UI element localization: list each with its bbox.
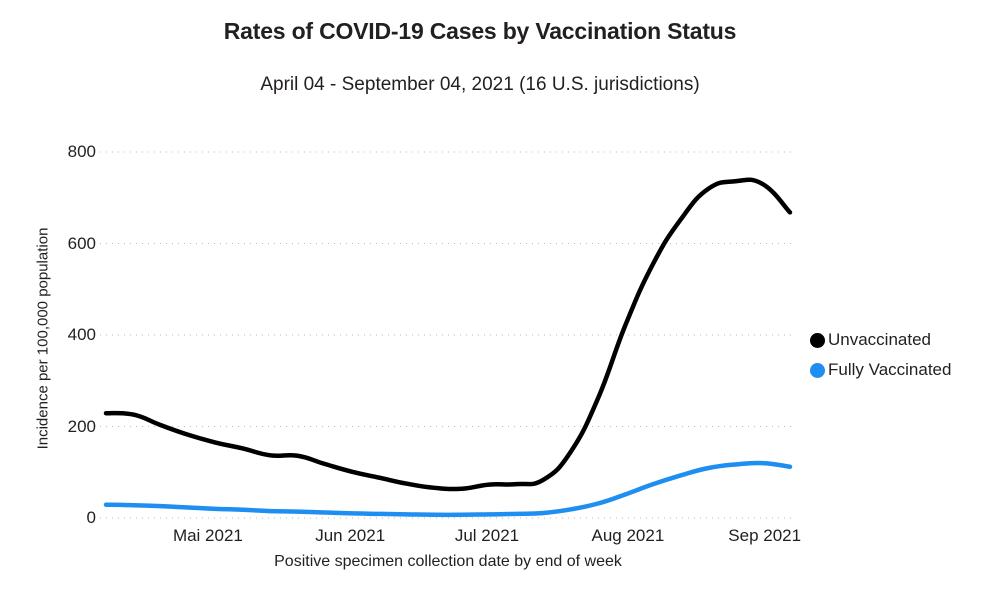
- series-line-unvaccinated: [106, 180, 790, 489]
- legend-marker-icon: [810, 363, 825, 378]
- legend-marker-icon: [810, 333, 825, 348]
- plot-area: [0, 0, 985, 595]
- legend-item-unvaccinated[interactable]: Unvaccinated: [810, 325, 951, 355]
- legend-item-fully-vaccinated[interactable]: Fully Vaccinated: [810, 355, 951, 385]
- legend-label: Fully Vaccinated: [828, 360, 951, 380]
- legend-label: Unvaccinated: [828, 330, 931, 350]
- covid-rates-chart: Rates of COVID-19 Cases by Vaccination S…: [0, 0, 985, 595]
- chart-legend: Unvaccinated Fully Vaccinated: [810, 325, 951, 385]
